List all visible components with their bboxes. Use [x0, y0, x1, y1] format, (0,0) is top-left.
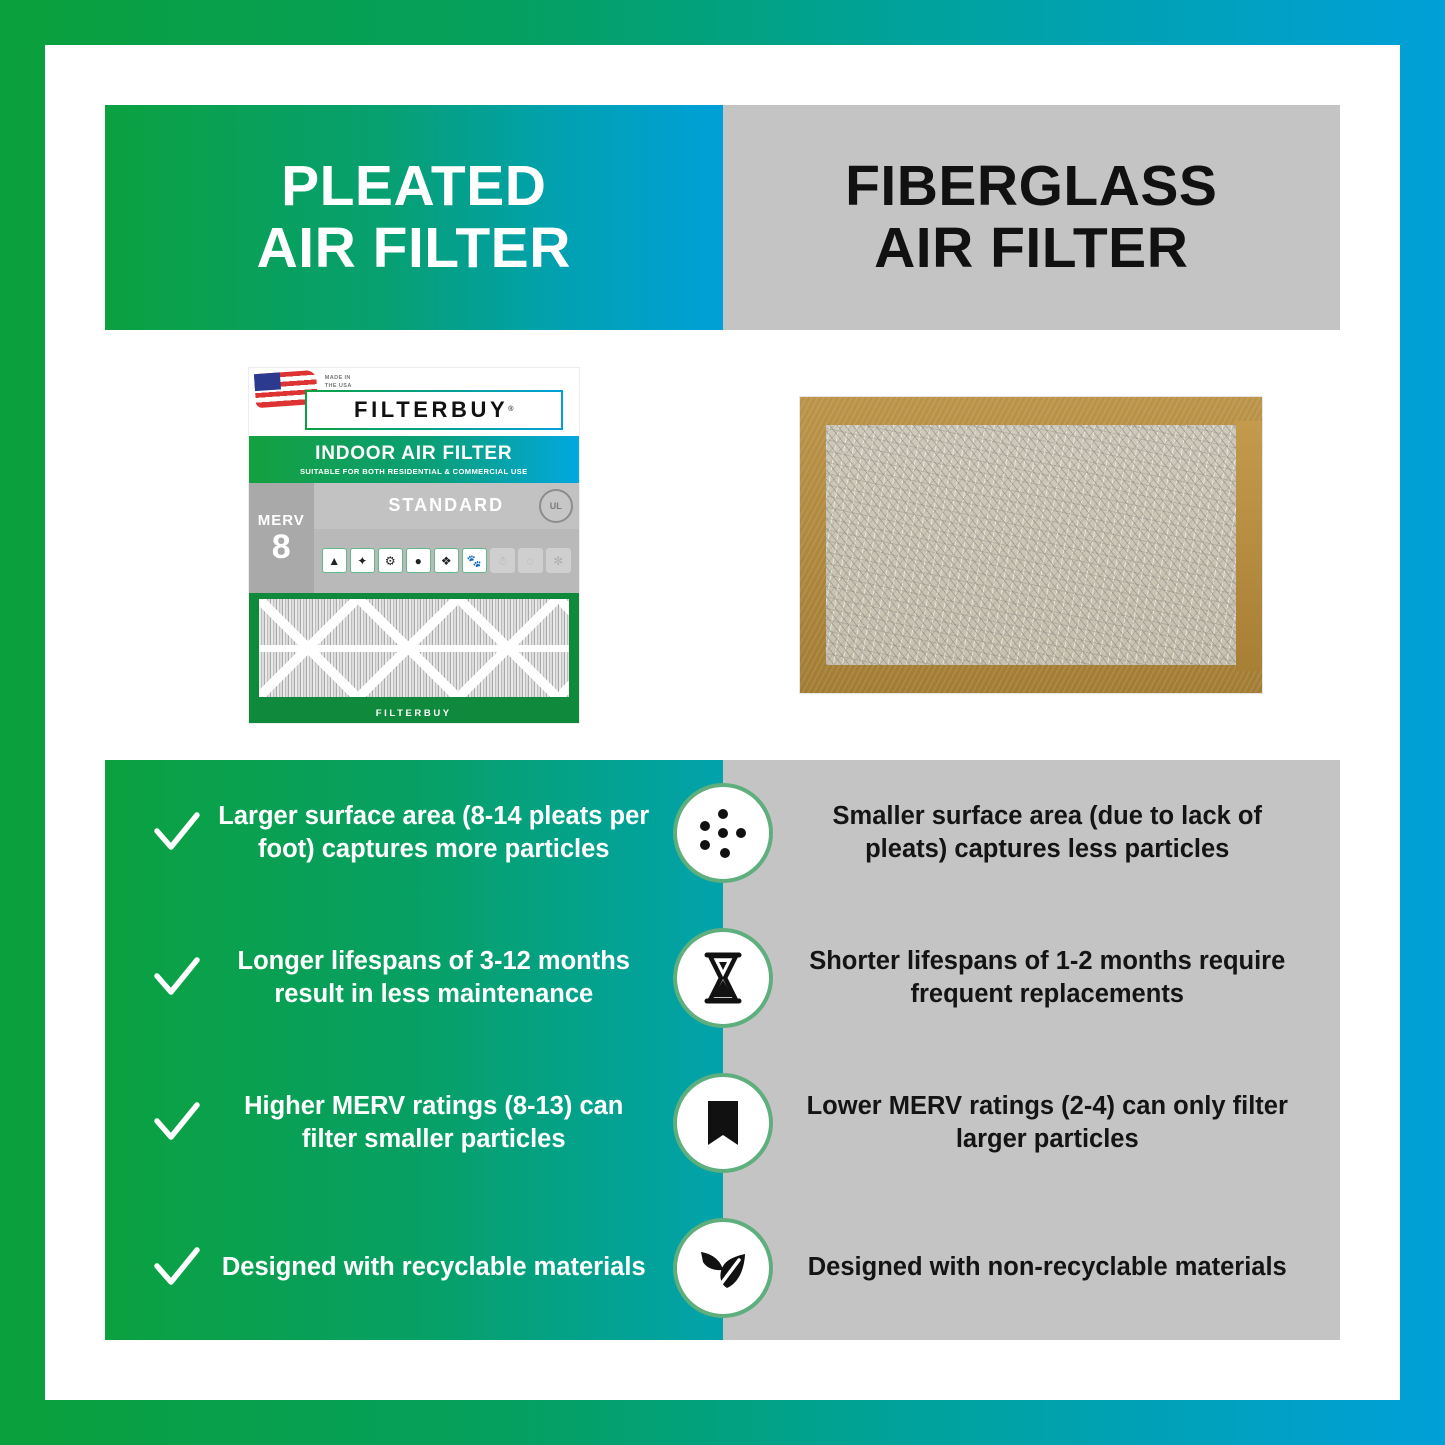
row3-left-text: Higher MERV ratings (8-13) can filter sm…	[213, 1090, 655, 1155]
grade-block: STANDARD ▲ ✦ ⚙ ● ❖ 🐾 ☃ ◌ ✻	[314, 483, 579, 593]
brand-name: FILTERBUY	[354, 397, 508, 423]
row1-left: Larger surface area (8-14 pleats per foo…	[105, 800, 673, 865]
row4-left-text: Designed with recyclable materials	[213, 1251, 655, 1284]
lint-dust-icon: ▲	[322, 548, 347, 573]
cardboard-frame-tab	[1236, 421, 1262, 671]
bookmark-ribbon-icon	[673, 1073, 773, 1173]
header-fiberglass-line2: AIR FILTER	[845, 218, 1217, 280]
dust-mites-icon: ✦	[350, 548, 375, 573]
package-spec-section: MERV 8 STANDARD ▲ ✦ ⚙ ● ❖ 🐾 ☃	[249, 483, 579, 593]
row4-left: Designed with recyclable materials	[105, 1242, 673, 1294]
package-footer-brand: FILTERBUY	[249, 708, 579, 719]
comparison-panel: Larger surface area (8-14 pleats per foo…	[105, 760, 1340, 1340]
header-row: PLEATED AIR FILTER FIBERGLASS AIR FILTER	[105, 105, 1340, 330]
row3-left: Higher MERV ratings (8-13) can filter sm…	[105, 1090, 673, 1155]
comparison-row: Larger surface area (8-14 pleats per foo…	[105, 760, 1340, 905]
ul-certification-icon: UL	[539, 489, 573, 523]
row3-right: Lower MERV ratings (2-4) can only filter…	[773, 1090, 1341, 1155]
dust-icon: ❖	[434, 548, 459, 573]
infographic-card: PLEATED AIR FILTER FIBERGLASS AIR FILTER…	[45, 45, 1400, 1400]
pollen-icon: ⚙	[378, 548, 403, 573]
row1-left-text: Larger surface area (8-14 pleats per foo…	[213, 800, 655, 865]
merv-label: MERV	[258, 512, 305, 529]
header-fiberglass-title: FIBERGLASS AIR FILTER	[845, 156, 1217, 279]
pleated-filter-package: MADE INTHE USA FILTERBUY® INDOOR AIR FIL…	[249, 368, 579, 723]
fiberglass-filter-image	[800, 397, 1262, 693]
row4-right-text: Designed with non-recyclable materials	[791, 1251, 1305, 1284]
package-band-subtitle: SUITABLE FOR BOTH RESIDENTIAL & COMMERCI…	[300, 467, 527, 476]
checkmark-icon	[141, 1242, 213, 1294]
header-pleated-title: PLEATED AIR FILTER	[257, 156, 571, 279]
pleated-product-cell: MADE INTHE USA FILTERBUY® INDOOR AIR FIL…	[105, 345, 723, 745]
smoke-icon: ☃	[490, 548, 515, 573]
merv-rating-block: MERV 8	[249, 483, 314, 593]
checkmark-icon	[141, 1097, 213, 1149]
leaf-eco-icon	[673, 1218, 773, 1318]
comparison-rows: Larger surface area (8-14 pleats per foo…	[105, 760, 1340, 1340]
row4-right: Designed with non-recyclable materials	[773, 1251, 1341, 1284]
checkmark-icon	[141, 807, 213, 859]
bacteria-icon: ◌	[518, 548, 543, 573]
header-pleated: PLEATED AIR FILTER	[105, 105, 723, 330]
pleat-media-texture	[259, 599, 569, 697]
row1-right: Smaller surface area (due to lack of ple…	[773, 800, 1341, 865]
brand-logo-box: FILTERBUY®	[305, 390, 563, 430]
product-image-row: MADE INTHE USA FILTERBUY® INDOOR AIR FIL…	[105, 345, 1340, 745]
row1-right-text: Smaller surface area (due to lack of ple…	[791, 800, 1305, 865]
row3-right-text: Lower MERV ratings (2-4) can only filter…	[791, 1090, 1305, 1155]
comparison-row: Designed with recyclable materials Desig…	[105, 1195, 1340, 1340]
virus-icon: ✻	[546, 548, 571, 573]
pleat-support-bar	[259, 645, 569, 652]
row2-right-text: Shorter lifespans of 1-2 months require …	[791, 945, 1305, 1010]
header-fiberglass: FIBERGLASS AIR FILTER	[723, 105, 1341, 330]
package-top-section: MADE INTHE USA FILTERBUY®	[249, 368, 579, 436]
package-pleat-window: FILTERBUY	[249, 593, 579, 723]
comparison-row: Higher MERV ratings (8-13) can filter sm…	[105, 1050, 1340, 1195]
fiberglass-mesh-texture	[826, 425, 1236, 665]
pet-dander-icon: 🐾	[462, 548, 487, 573]
brand-trademark-icon: ®	[508, 406, 513, 413]
package-band: INDOOR AIR FILTER SUITABLE FOR BOTH RESI…	[249, 436, 579, 483]
made-in-usa-label: MADE INTHE USA	[325, 374, 352, 391]
header-pleated-line2: AIR FILTER	[257, 218, 571, 280]
row2-left-text: Longer lifespans of 3-12 months result i…	[213, 945, 655, 1010]
row2-left: Longer lifespans of 3-12 months result i…	[105, 945, 673, 1010]
checkmark-icon	[141, 952, 213, 1004]
dots-group	[695, 805, 751, 861]
header-pleated-line1: PLEATED	[281, 154, 546, 218]
fiberglass-product-cell	[723, 345, 1341, 745]
package-band-title: INDOOR AIR FILTER	[315, 443, 512, 465]
header-fiberglass-line1: FIBERGLASS	[845, 154, 1217, 218]
comparison-row: Longer lifespans of 3-12 months result i…	[105, 905, 1340, 1050]
mold-icon: ●	[406, 548, 431, 573]
particles-dots-icon	[673, 783, 773, 883]
feature-icon-row: ▲ ✦ ⚙ ● ❖ 🐾 ☃ ◌ ✻	[314, 529, 579, 593]
merv-value: 8	[272, 530, 291, 564]
hourglass-icon	[673, 928, 773, 1028]
row2-right: Shorter lifespans of 1-2 months require …	[773, 945, 1341, 1010]
